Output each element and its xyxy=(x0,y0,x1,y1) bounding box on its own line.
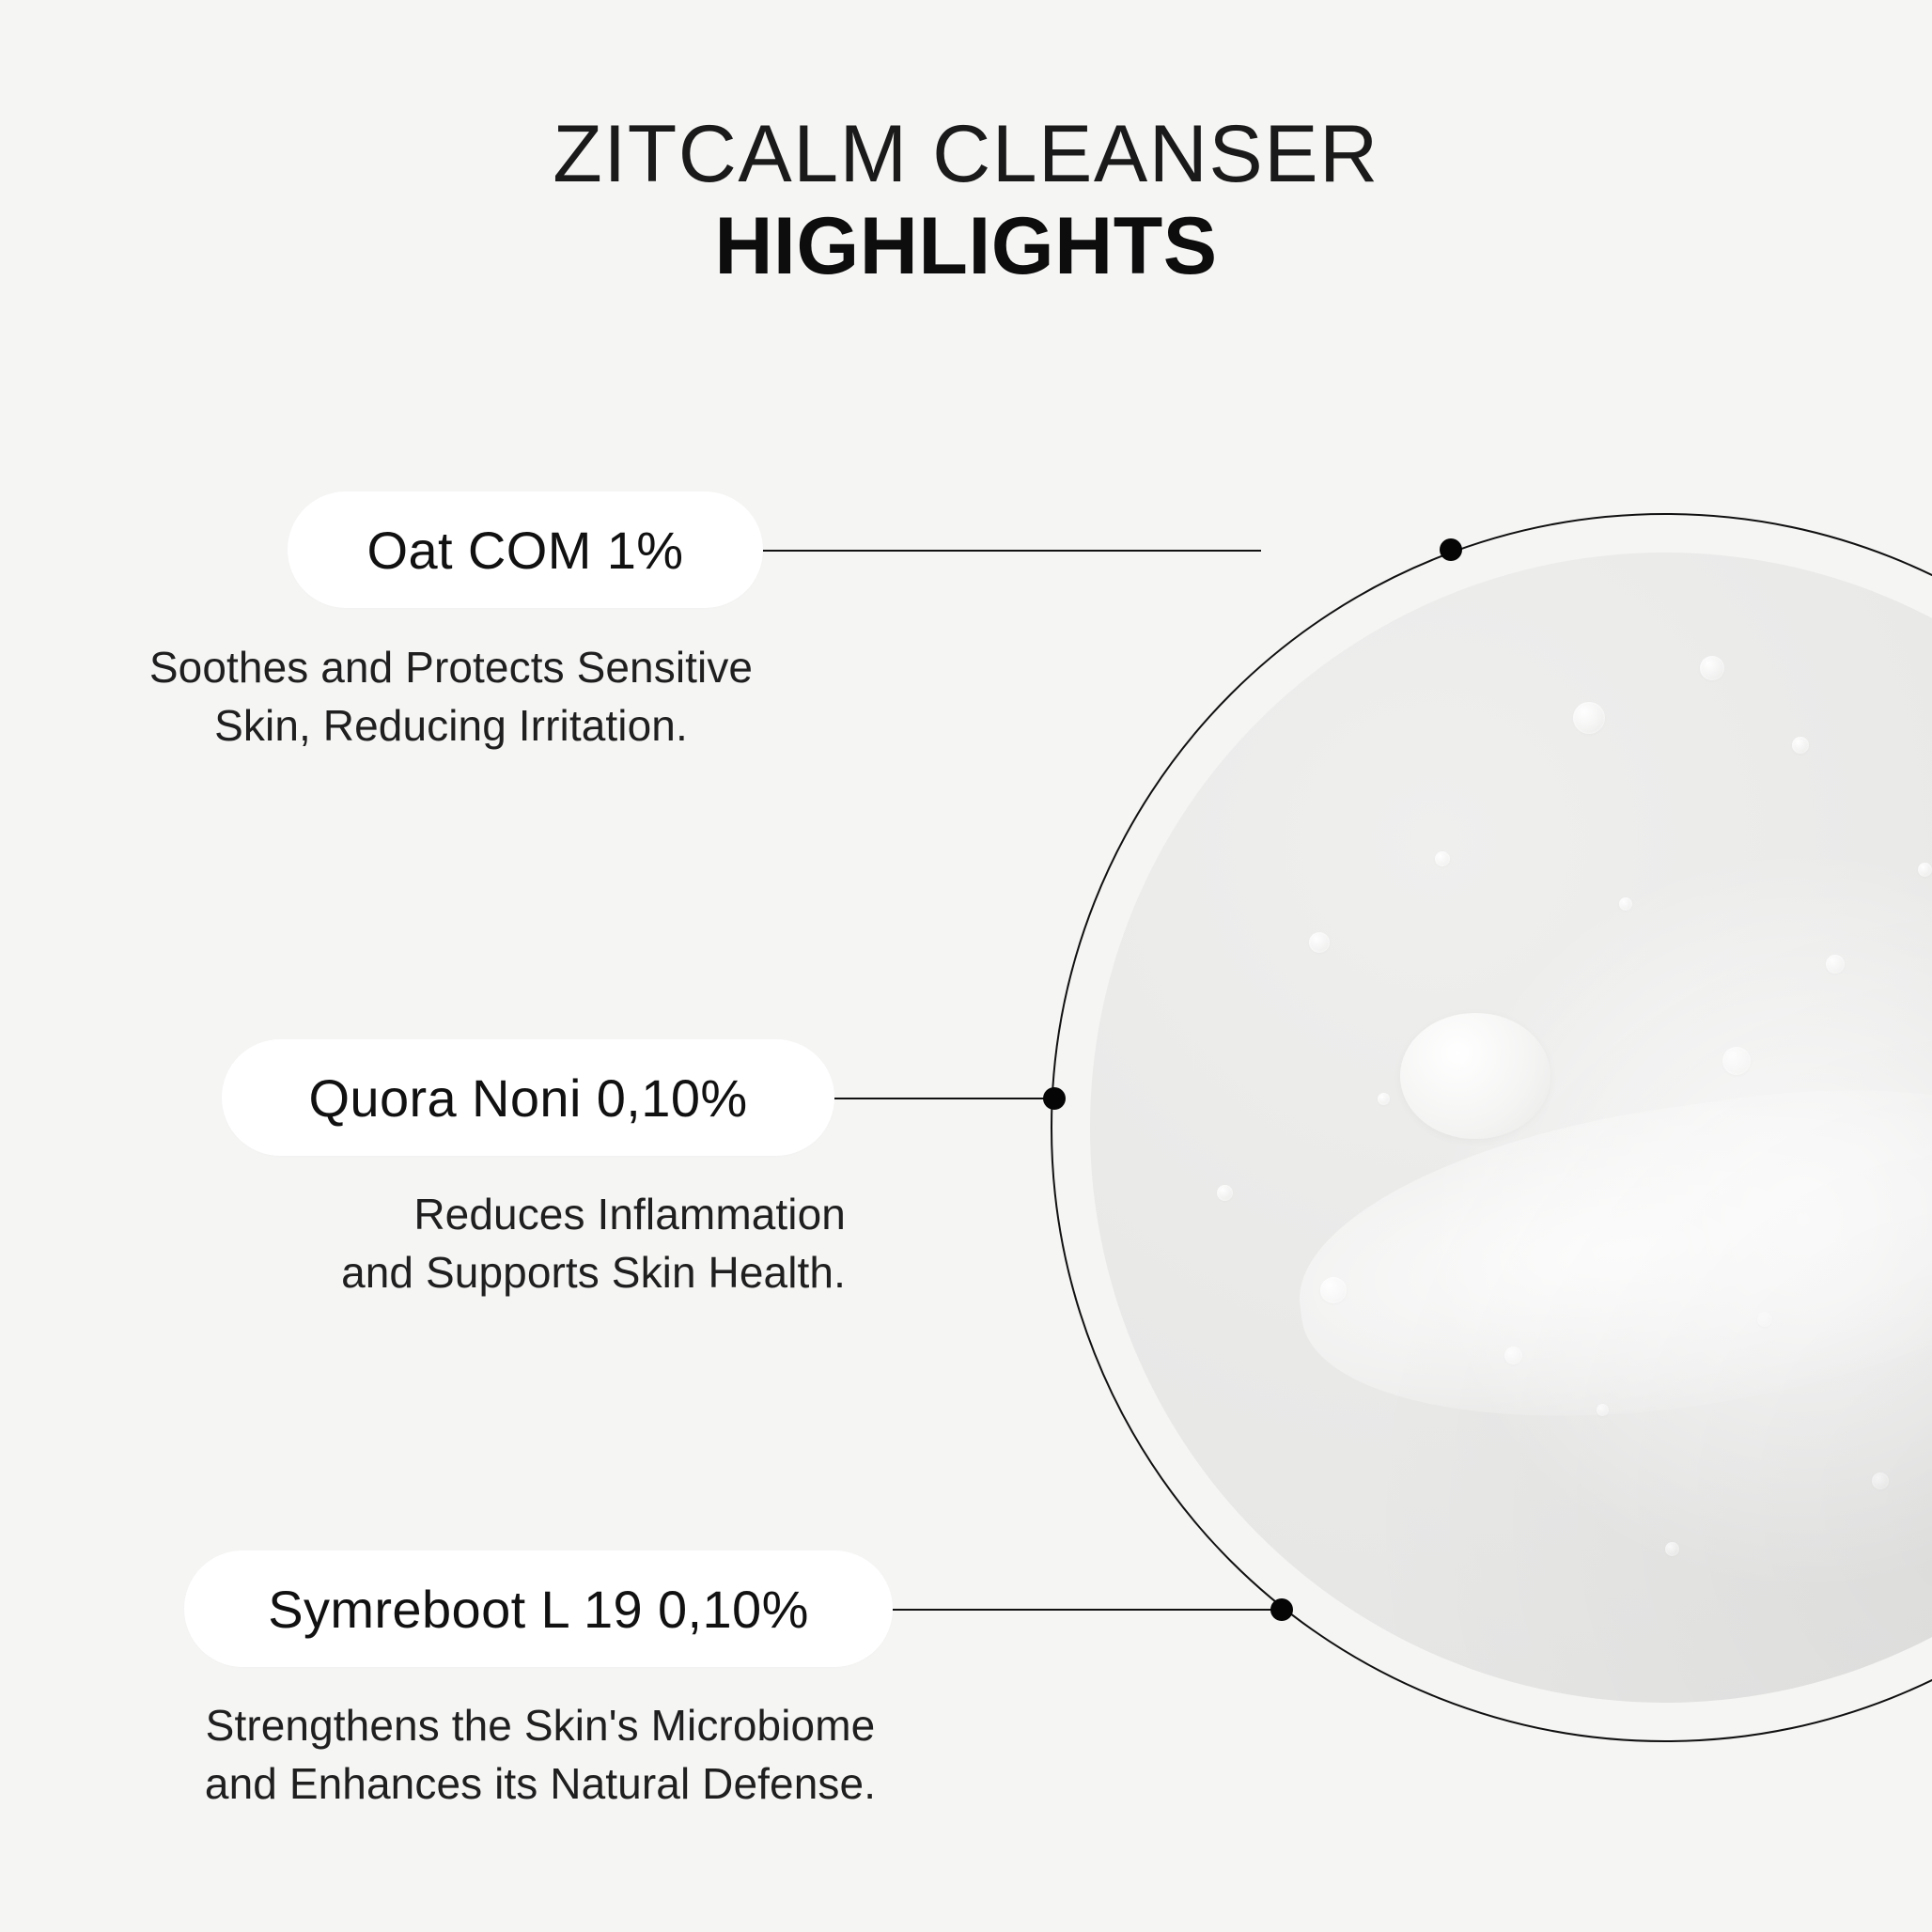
title-line-product: ZITCALM CLEANSER xyxy=(0,111,1932,198)
connector-dot-oat-com xyxy=(1440,538,1462,561)
connector-line-quora-noni xyxy=(834,1098,1064,1099)
highlight-pill-symreboot[interactable]: Symreboot L 19 0,10% xyxy=(184,1550,893,1667)
connector-line-oat-com xyxy=(763,550,1261,552)
poster-canvas: ZITCALM CLEANSER HIGHLIGHTS xyxy=(0,0,1932,1932)
highlight-description-oat-com: Soothes and Protects Sensitive Skin, Red… xyxy=(122,639,780,755)
connector-line-symreboot xyxy=(893,1609,1287,1611)
highlight-pill-quora-noni[interactable]: Quora Noni 0,10% xyxy=(222,1039,834,1156)
highlight-pill-label: Quora Noni 0,10% xyxy=(308,1067,747,1129)
page-title: ZITCALM CLEANSER HIGHLIGHTS xyxy=(0,111,1932,295)
connector-dot-symreboot xyxy=(1270,1598,1293,1621)
highlight-pill-oat-com[interactable]: Oat COM 1% xyxy=(288,491,763,608)
highlight-description-quora-noni: Reduces Inflammation and Supports Skin H… xyxy=(169,1186,846,1301)
connector-dot-quora-noni xyxy=(1043,1087,1066,1110)
highlight-description-symreboot: Strengthens the Skin's Microbiome and En… xyxy=(132,1697,949,1813)
title-line-highlights: HIGHLIGHTS xyxy=(0,198,1932,295)
highlight-pill-label: Symreboot L 19 0,10% xyxy=(268,1579,809,1640)
highlight-pill-label: Oat COM 1% xyxy=(367,520,684,581)
